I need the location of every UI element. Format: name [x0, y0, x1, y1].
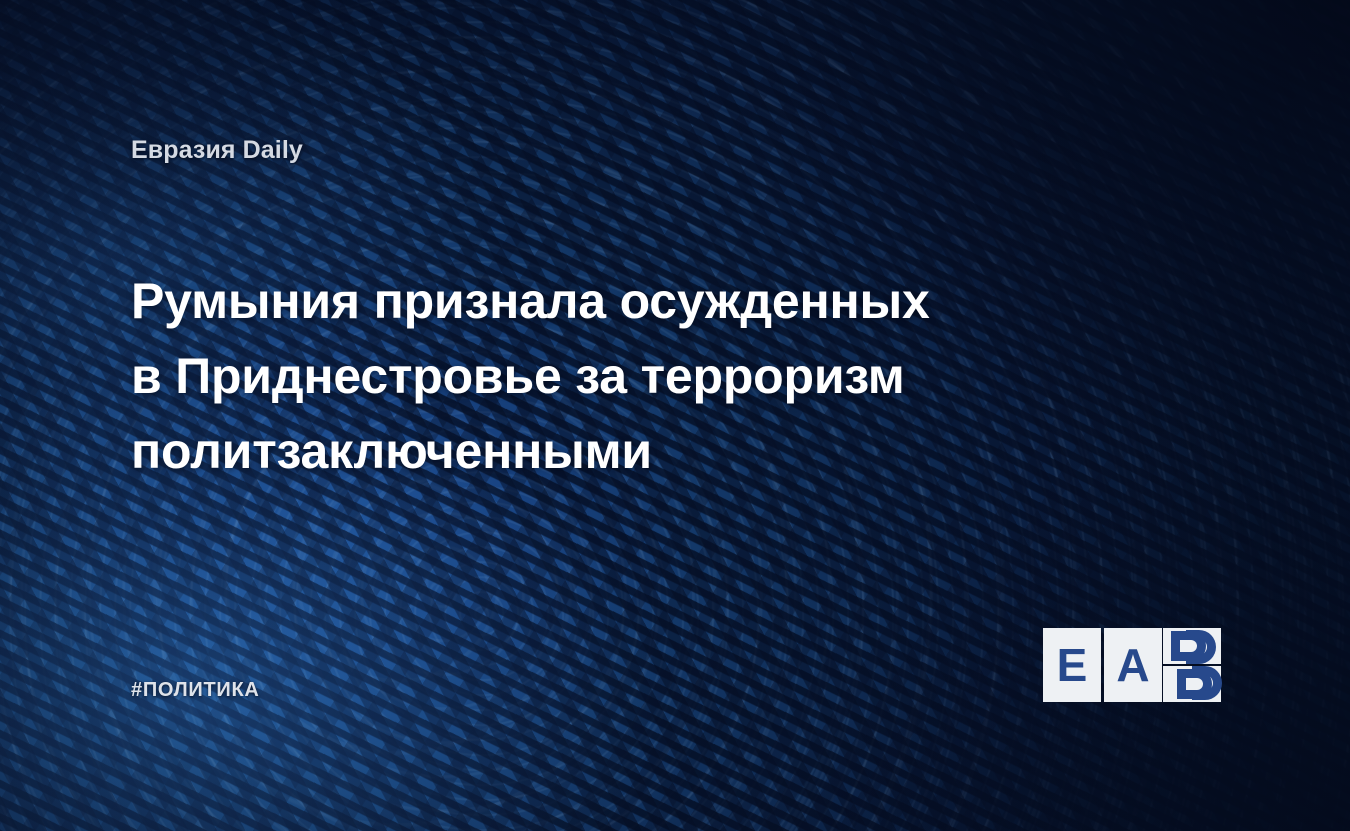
- headline-line-1: Румыния признала осужденных: [131, 264, 1061, 339]
- category-tag[interactable]: #ПОЛИТИКА: [131, 679, 260, 702]
- headline-line-3: политзаключенными: [131, 414, 1061, 489]
- logo-tile-a: A: [1104, 628, 1162, 702]
- logo-d-stem-top: [1171, 631, 1180, 661]
- headline-line-2: в Приднестровье за терроризм: [131, 339, 1061, 414]
- headline: Румыния признала осужденных в Приднестро…: [131, 264, 1061, 489]
- logo-d-stem-bottom: [1177, 669, 1186, 699]
- social-share-card: Евразия Daily Румыния признала осужденны…: [0, 0, 1350, 831]
- brand-title: Евразия Daily: [131, 136, 303, 165]
- logo-letter-a: A: [1104, 628, 1162, 702]
- logo-letter-e: E: [1043, 628, 1101, 702]
- card-content: Евразия Daily Румыния признала осужденны…: [0, 0, 1350, 831]
- logo-tile-e: E: [1043, 628, 1101, 702]
- eadaily-logo[interactable]: E A: [1043, 628, 1221, 702]
